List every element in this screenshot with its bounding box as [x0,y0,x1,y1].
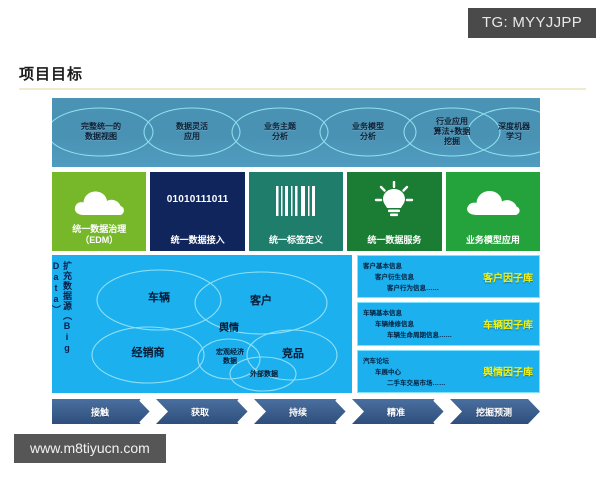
factor-lines-customer: 客户基本信息 客户衍生信息 客户行为信息…… [363,261,439,294]
flow-step-5: 挖掘预测 [476,405,512,418]
capability-card-ingest[interactable]: 01010111011 统一数据接入 [150,172,244,251]
capability-label-2: 统一数据接入 [171,235,225,246]
goal-item-2: 数据灵活 应用 [156,122,228,142]
venn-item-macro: 宏观经济 数据 [200,348,260,366]
factor-box-sentiment[interactable]: 汽车论坛 车展中心 二手车交易市场…… 舆情因子库 [357,350,540,393]
capability-label-1: 统一数据治理 （EDM） [72,224,126,246]
venn-diagram: 扩充数据源（Big Data） 车辆 客户 经销商 舆情 宏观经济 数据 竞品 … [52,255,352,393]
factor-library-column: 客户基本信息 客户衍生信息 客户行为信息…… 客户因子库 车辆基本信息 车辆维修… [357,255,540,393]
venn-item-sentiment: 舆情 [194,323,264,334]
capability-cards: 统一数据治理 （EDM） 01010111011 统一数据接入 [52,172,540,251]
capability-card-tag[interactable]: 统一标签定义 [249,172,343,251]
flow-step-3: 持续 [289,405,307,418]
capability-label-3: 统一标签定义 [269,235,323,246]
factor-lines-vehicle: 车辆基本信息 车辆维修信息 车辆生命周期信息…… [363,308,452,341]
venn-item-external: 外部数据 [233,369,295,380]
factor-line: 客户衍生信息 [363,272,439,283]
factor-name-sentiment: 舆情因子库 [483,364,533,379]
binary-icon: 01010111011 [150,194,244,205]
project-goal-diagram: 完整统一的 数据视图 数据灵活 应用 业务主题 分析 业务模型 分析 行业应用 … [52,98,540,428]
lightbulb-icon [347,179,441,223]
site-watermark: www.m8tiyucn.com [14,434,166,463]
flow-step-1: 接触 [91,405,109,418]
capability-label-5: 业务模型应用 [466,235,520,246]
factor-line: 二手车交易市场…… [363,378,446,389]
goal-item-5: 行业应用 算法+数据 挖掘 [416,117,488,147]
factor-name-vehicle: 车辆因子库 [483,316,533,331]
goal-item-6: 深度机器 学习 [480,122,548,142]
cloud-icon [446,179,540,223]
factor-line: 汽车论坛 [363,356,446,367]
factor-name-customer: 客户因子库 [483,269,533,284]
capability-card-edm[interactable]: 统一数据治理 （EDM） [52,172,146,251]
factor-line: 车辆维修信息 [363,319,452,330]
goal-item-1: 完整统一的 数据视图 [62,122,140,142]
factor-line: 车辆基本信息 [363,308,452,319]
venn-item-customer: 客户 [228,296,294,307]
cloud-icon [52,179,146,223]
flow-step-4: 精准 [387,405,405,418]
capability-label-4: 统一数据服务 [367,235,421,246]
tg-badge: TG: MYYJJPP [468,8,596,38]
factor-line: 客户行为信息…… [363,283,439,294]
capability-card-service[interactable]: 统一数据服务 [347,172,441,251]
goal-item-4: 业务模型 分析 [332,122,404,142]
factor-box-customer[interactable]: 客户基本信息 客户衍生信息 客户行为信息…… 客户因子库 [357,255,540,298]
capability-card-model[interactable]: 业务模型应用 [446,172,540,251]
flow-step-2: 获取 [191,405,209,418]
factor-line: 车展中心 [363,367,446,378]
title-divider [19,88,586,90]
venn-item-competitor: 竞品 [263,349,323,360]
goal-item-3: 业务主题 分析 [244,122,316,142]
page-title: 项目目标 [19,63,83,84]
factor-box-vehicle[interactable]: 车辆基本信息 车辆维修信息 车辆生命周期信息…… 车辆因子库 [357,302,540,345]
venn-item-vehicle: 车辆 [126,293,192,304]
goals-band: 完整统一的 数据视图 数据灵活 应用 业务主题 分析 业务模型 分析 行业应用 … [52,98,540,167]
factor-lines-sentiment: 汽车论坛 车展中心 二手车交易市场…… [363,356,446,389]
factor-line: 客户基本信息 [363,261,439,272]
venn-item-dealer: 经销商 [115,348,181,359]
bigdata-band: 扩充数据源（Big Data） 车辆 客户 经销商 舆情 宏观经济 数据 竞品 … [52,255,540,393]
barcode-icon [249,179,343,223]
factor-line: 车辆生命周期信息…… [363,330,452,341]
process-flow: 接触 获取 持续 精准 挖掘预测 [52,399,540,424]
